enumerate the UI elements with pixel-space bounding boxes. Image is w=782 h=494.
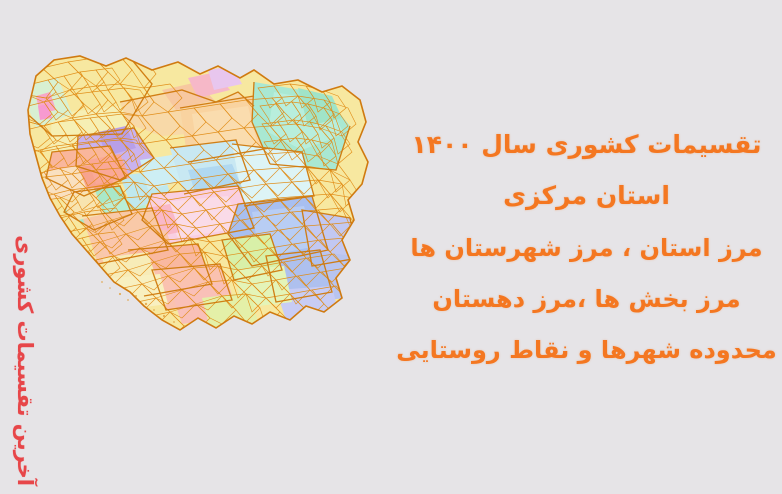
headline-text-panel: تقسیمات کشوری سال ۱۴۰۰ استان مرکزی مرز ا… — [391, 0, 782, 494]
headline-line-borders-1: مرز استان ، مرز شهرستان ها — [410, 234, 762, 262]
headline-line-settlements: محدوده شهرها و نقاط روستایی — [396, 336, 776, 364]
poster-canvas: آخرین تقسیمات کشوری تقسیمات کشوری سال ۱۴… — [0, 0, 782, 494]
headline-line-province: استان مرکزی — [503, 181, 670, 210]
headline-line-borders-2: مرز بخش ها ،مرز دهستان — [432, 285, 740, 313]
vertical-watermark-caption: آخرین تقسیمات کشوری — [8, 236, 42, 486]
headline-line-title: تقسیمات کشوری سال ۱۴۰۰ — [411, 130, 761, 159]
iran-map — [2, 44, 374, 364]
map-panel: آخرین تقسیمات کشوری — [0, 0, 391, 494]
